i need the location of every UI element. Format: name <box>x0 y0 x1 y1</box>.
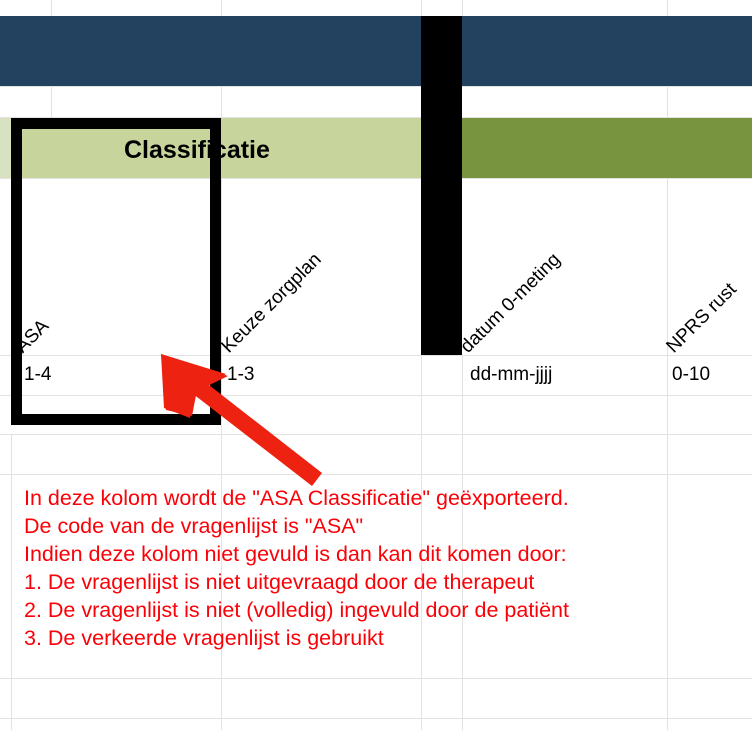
annotation-line: Indien deze kolom niet gevuld is dan kan… <box>24 540 736 568</box>
grid-hline <box>0 474 752 475</box>
annotation-line: 1. De vragenlijst is niet uitgevraagd do… <box>24 568 736 596</box>
annotation-line: 3. De verkeerde vragenlijst is gebruikt <box>24 624 736 652</box>
grid-hline <box>0 395 752 396</box>
cell-value-keuze-zorgplan[interactable]: 1-3 <box>227 364 254 386</box>
column-header-keuze-zorgplan: Keuze zorgplan <box>217 249 326 358</box>
cell-value-asa[interactable]: 1-4 <box>24 364 51 386</box>
banner-blue-left <box>0 16 421 86</box>
cell-value-datum-0-meting[interactable]: dd-mm-jjjj <box>470 364 552 386</box>
cell-value-nprs-rust[interactable]: 0-10 <box>672 364 710 386</box>
grid-hline <box>0 178 752 179</box>
grid-vline <box>221 0 222 16</box>
redaction-mask-column <box>421 16 462 355</box>
grid-hline <box>0 718 752 719</box>
band-title-classificatie: Classificatie <box>124 136 270 165</box>
annotation-line: 2. De vragenlijst is niet (volledig) ing… <box>24 596 736 624</box>
annotation-line: In deze kolom wordt de "ASA Classificati… <box>24 484 736 512</box>
grid-vline <box>462 0 463 16</box>
grid-hline <box>0 434 752 435</box>
annotation-line: De code van de vragenlijst is "ASA" <box>24 512 736 540</box>
column-header-asa: ASA <box>11 316 53 358</box>
grid-vline <box>11 434 12 730</box>
grid-hline <box>0 678 752 679</box>
annotation-text-block: In deze kolom wordt de "ASA Classificati… <box>24 484 736 652</box>
grid-vline <box>51 0 52 16</box>
grid-vline <box>421 0 422 16</box>
spreadsheet-canvas: Classificatie ASA Keuze zorgplan datum 0… <box>0 0 752 730</box>
banner-green-pale-stub <box>0 118 11 178</box>
red-arrow-icon <box>140 340 340 490</box>
grid-hline <box>0 355 752 356</box>
banner-green-dark <box>462 118 752 178</box>
column-header-datum-0-meting: datum 0-meting <box>456 249 565 358</box>
grid-hline <box>0 86 752 87</box>
banner-blue-right <box>462 16 752 86</box>
column-header-nprs-rust: NPRS rust <box>662 279 741 358</box>
grid-vline <box>51 86 52 118</box>
grid-vline <box>667 0 668 16</box>
